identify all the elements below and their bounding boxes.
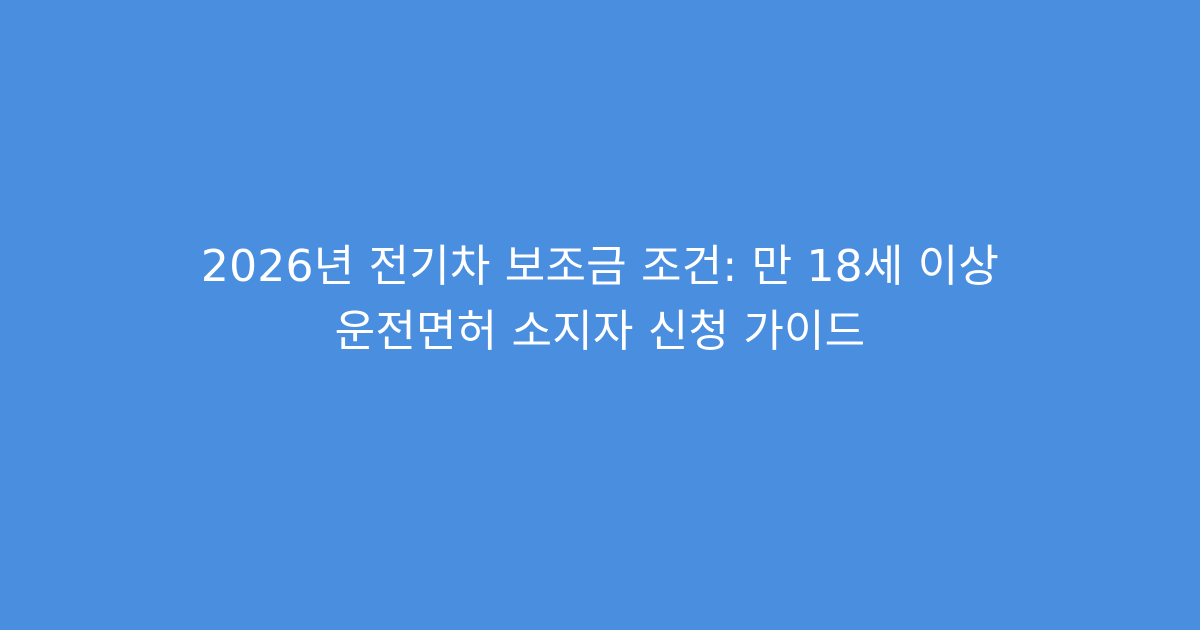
page-title-line-1: 2026년 전기차 보조금 조건: 만 18세 이상	[90, 234, 1110, 299]
thumbnail-card: 2026년 전기차 보조금 조건: 만 18세 이상 운전면허 소지자 신청 가…	[0, 0, 1200, 630]
page-title: 2026년 전기차 보조금 조건: 만 18세 이상 운전면허 소지자 신청 가…	[70, 234, 1130, 364]
page-title-line-2: 운전면허 소지자 신청 가이드	[90, 299, 1110, 364]
